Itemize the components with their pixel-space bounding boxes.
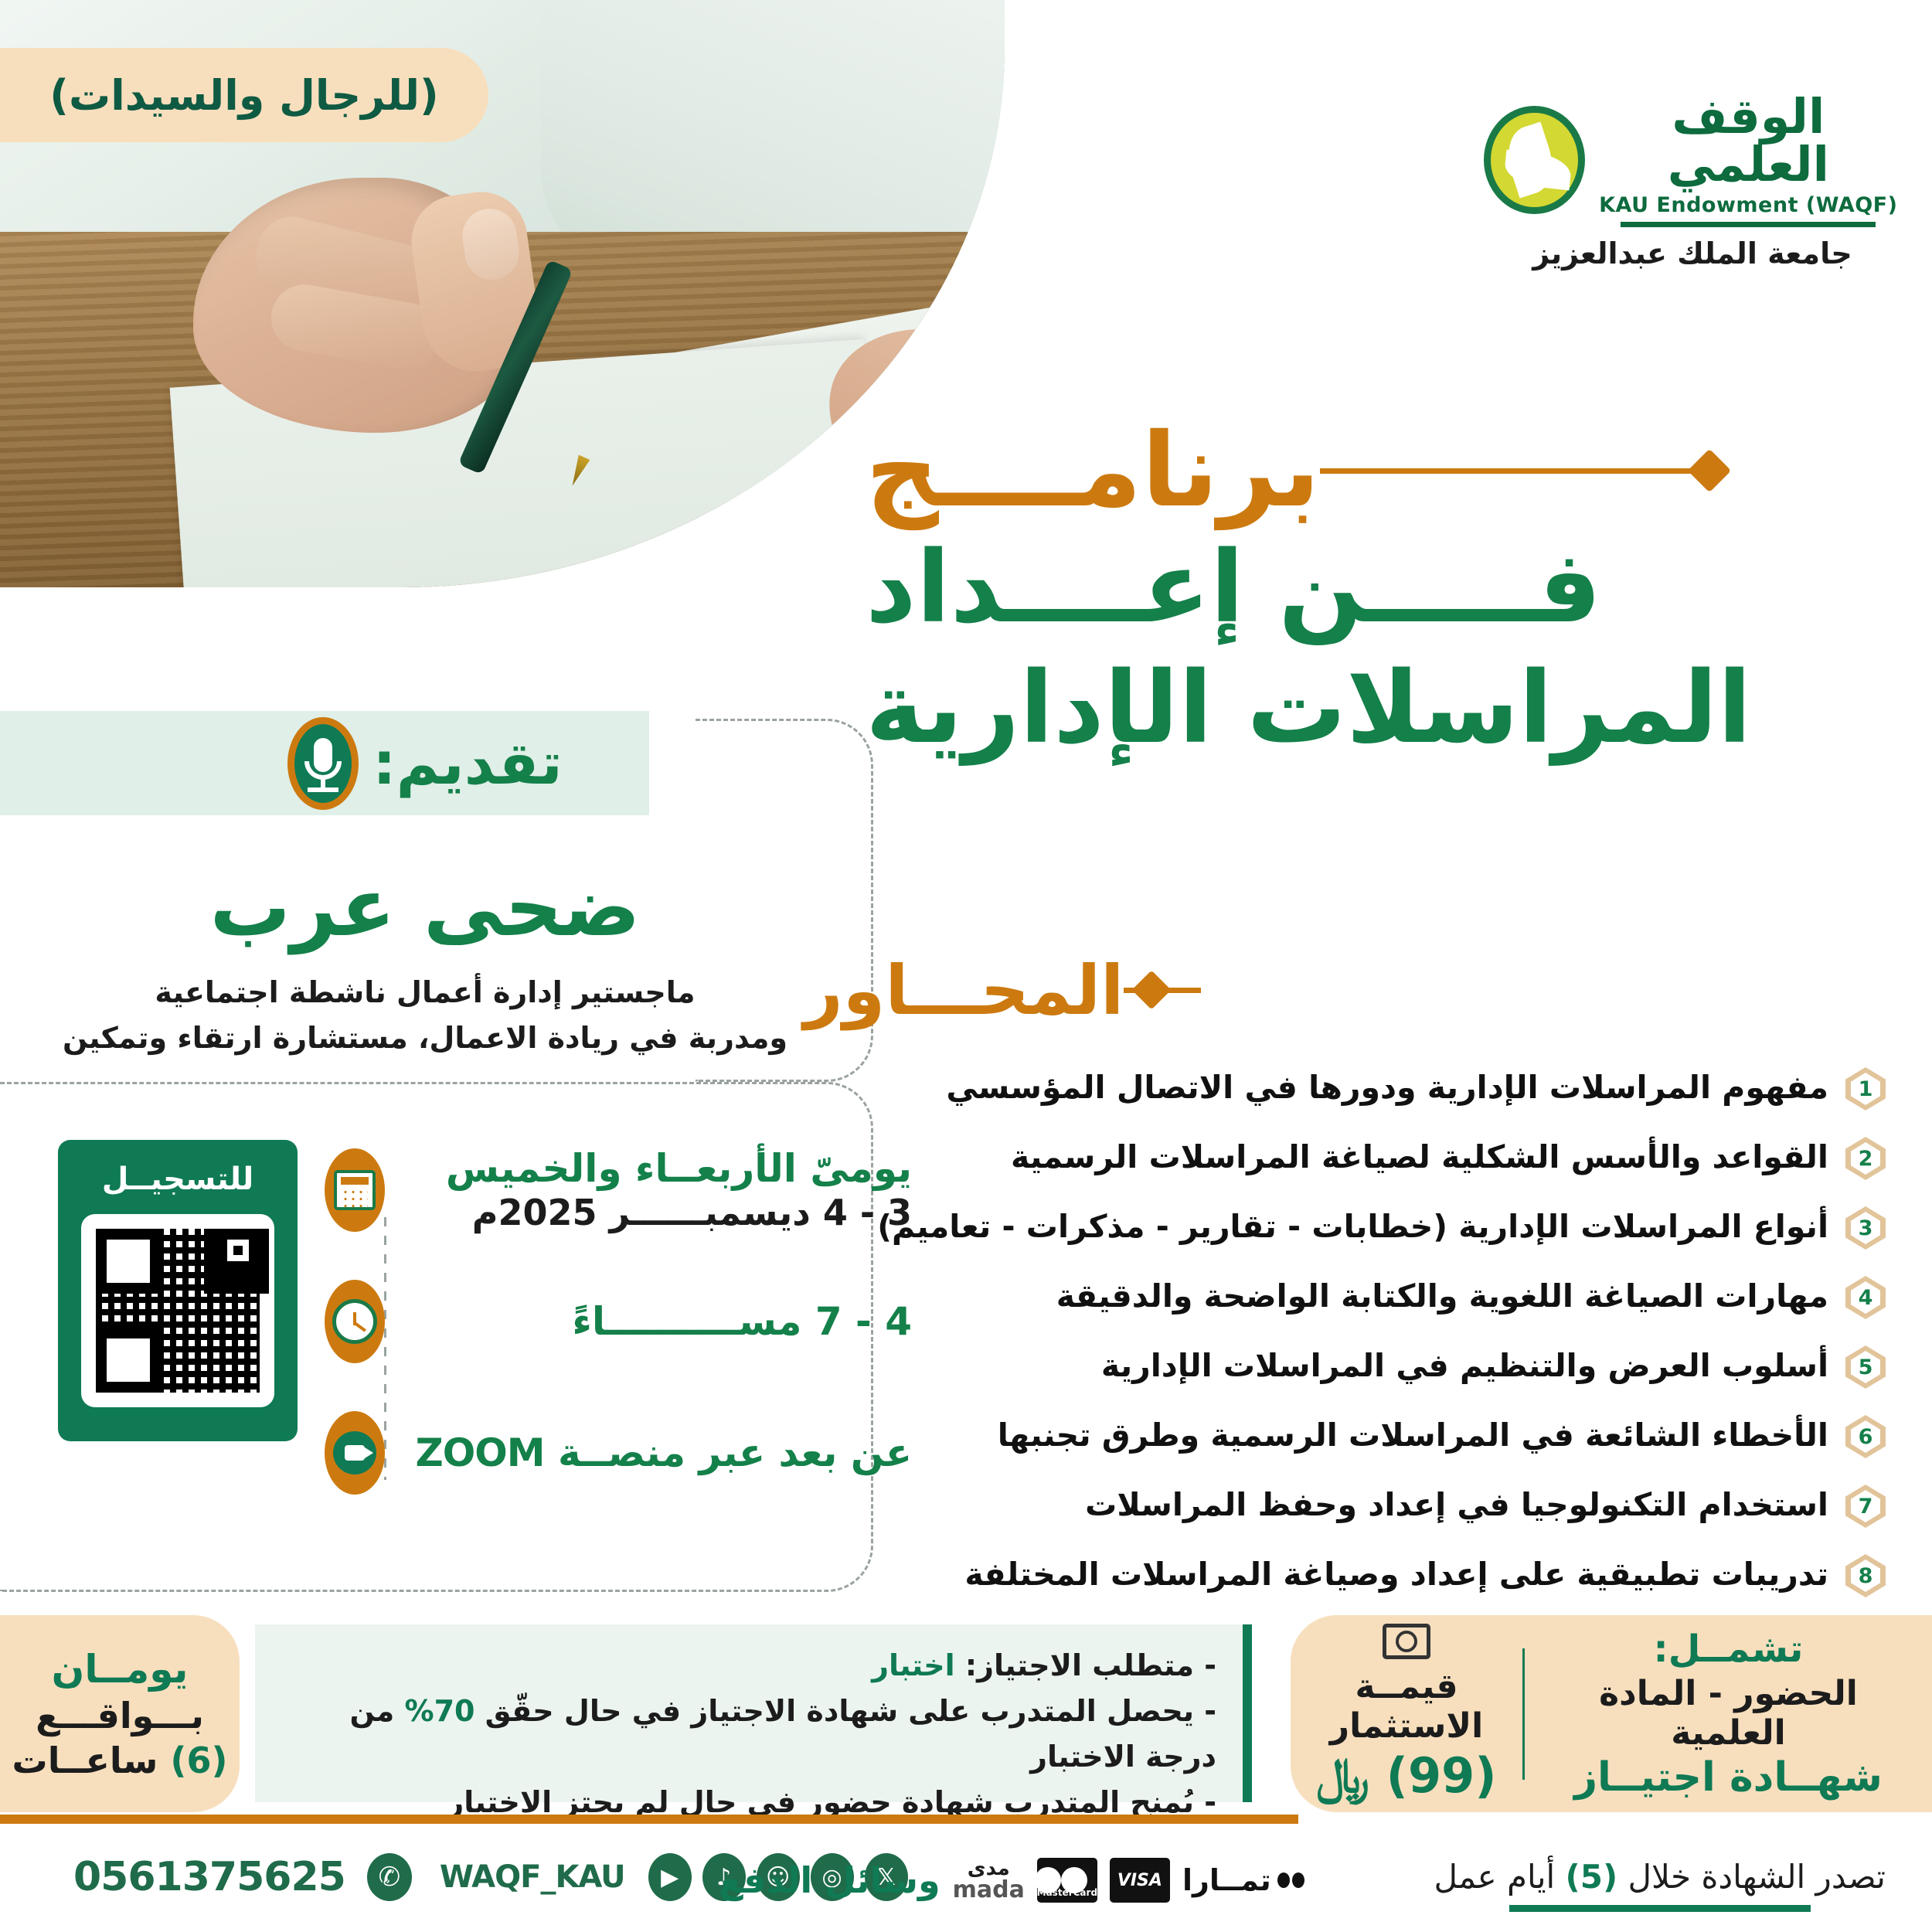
registration-card[interactable]: للتسجيــل bbox=[58, 1140, 298, 1441]
axis-item: 7استخدام التكنولوجيا في إعداد وحفظ المرا… bbox=[804, 1485, 1886, 1528]
note-row: - متطلب الاجتياز: اختبار bbox=[281, 1643, 1216, 1689]
investment-pill: تشمــل: الحضور - المادة العلمية شهــادة … bbox=[1291, 1615, 1932, 1812]
youtube-icon[interactable]: ▶ bbox=[648, 1853, 692, 1901]
axes-section: المحـــاور 1مفهوم المراسلات الإدارية ودو… bbox=[804, 951, 1886, 1624]
axis-number-badge: 3 bbox=[1845, 1206, 1886, 1250]
duration-hours-value: (6) bbox=[170, 1740, 227, 1781]
presenter-label: تقديم: bbox=[372, 729, 563, 798]
investment-price: قيمــة الاستثمار (99) ﷼ bbox=[1291, 1624, 1522, 1804]
axis-number-badge: 7 bbox=[1845, 1485, 1886, 1528]
duration-rate-label: بـــواقـــع bbox=[36, 1695, 204, 1736]
includes-line1: الحضور - المادة العلمية bbox=[1543, 1674, 1913, 1753]
title-main-line: المراسلات الإدارية bbox=[866, 648, 1886, 769]
axis-number-badge: 8 bbox=[1845, 1554, 1886, 1597]
investment-divider bbox=[1522, 1648, 1525, 1780]
duration-days: يومــان bbox=[52, 1647, 189, 1692]
axis-item: 1مفهوم المراسلات الإدارية ودورها في الات… bbox=[804, 1067, 1886, 1111]
title-dash-decoration bbox=[1320, 468, 1722, 474]
audience-badge: (للرجال والسيدات) bbox=[0, 48, 488, 142]
mastercard-icon: MasterCard bbox=[1037, 1858, 1097, 1903]
title-kicker: برنامــــج bbox=[866, 417, 1320, 525]
duration-hours: (6) ساعــات bbox=[12, 1740, 228, 1781]
visa-icon: VISA bbox=[1110, 1858, 1170, 1903]
mada-icon: مدى mada bbox=[953, 1859, 1025, 1902]
axis-number-badge: 1 bbox=[1845, 1067, 1886, 1111]
axis-text: أنواع المراسلات الإدارية (خطابات - تقاري… bbox=[877, 1206, 1828, 1247]
includes-label: تشمــل: bbox=[1543, 1628, 1913, 1671]
clock-icon bbox=[332, 1299, 377, 1344]
orange-divider-strip bbox=[0, 1815, 1298, 1824]
schedule-rows: يومىّ الأربعــاء والخميس3 - 4 ديسمبـــــ… bbox=[325, 1124, 912, 1519]
axis-text: الأخطاء الشائعة في المراسلات الرسمية وطر… bbox=[998, 1415, 1828, 1456]
certificate-prefix: تصدر الشهادة خلال bbox=[1617, 1858, 1886, 1896]
audience-badge-label: (للرجال والسيدات) bbox=[49, 71, 438, 120]
schedule-text: 4 - 7 مســــــــــاءً bbox=[405, 1299, 912, 1345]
axis-item: 3أنواع المراسلات الإدارية (خطابات - تقار… bbox=[804, 1206, 1886, 1250]
presenter-name: ضحى عرب bbox=[0, 860, 850, 954]
calendar-icon bbox=[334, 1170, 376, 1210]
axis-item: 4مهارات الصياغة اللغوية والكتابة الواضحة… bbox=[804, 1276, 1886, 1319]
axis-number-badge: 6 bbox=[1845, 1415, 1886, 1458]
footer-bar: 𝕏 ◎ ☺ ♪ ▶ WAQF_KAU ✆ 0561375625 وسائل ال… bbox=[0, 1847, 1932, 1932]
presenter-bio-line2: ومدربة في ريادة الاعمال، مستشارة ارتقاء … bbox=[0, 1017, 850, 1060]
poster-root: (للرجال والسيدات) الوقف العلمي KAU Endow… bbox=[0, 0, 1932, 1932]
logo-english-name: KAU Endowment (WAQF) bbox=[1596, 193, 1901, 217]
schedule-line2: 3 - 4 ديسمبــــــر 2025م bbox=[405, 1192, 912, 1233]
schedule-icon-wrap bbox=[325, 1411, 385, 1495]
kau-waqf-logo: الوقف العلمي KAU Endowment (WAQF) جامعة … bbox=[1484, 93, 1901, 270]
title-main-line: فـــــن إعــــداد bbox=[866, 528, 1886, 648]
microphone-icon bbox=[287, 717, 359, 810]
note-prefix: - متطلب الاجتياز: bbox=[955, 1648, 1216, 1682]
payment-label: وسائل الدفع bbox=[719, 1859, 940, 1901]
schedule-icon-wrap bbox=[325, 1280, 385, 1363]
axis-text: مفهوم المراسلات الإدارية ودورها في الاتص… bbox=[946, 1067, 1828, 1108]
duration-hours-unit: ساعــات bbox=[12, 1740, 158, 1781]
bottom-info-bar: يومــان بـــواقـــع (6) ساعــات - متطلب … bbox=[0, 1607, 1932, 1820]
schedule-line1: يومىّ الأربعــاء والخميس bbox=[446, 1146, 912, 1191]
schedule-text: يومىّ الأربعــاء والخميس3 - 4 ديسمبـــــ… bbox=[405, 1146, 912, 1233]
axis-number-badge: 4 bbox=[1845, 1276, 1886, 1319]
axes-heading: المحـــاور bbox=[804, 951, 1124, 1030]
axis-text: مهارات الصياغة اللغوية والكتابة الواضحة … bbox=[1056, 1276, 1828, 1317]
axis-number-badge: 5 bbox=[1845, 1345, 1886, 1389]
certificate-days: (5) bbox=[1566, 1858, 1618, 1896]
investment-includes: تشمــل: الحضور - المادة العلمية شهــادة … bbox=[1525, 1628, 1932, 1801]
whatsapp-icon[interactable]: ✆ bbox=[367, 1853, 412, 1901]
investment-label: قيمــة الاستثمار bbox=[1291, 1667, 1522, 1746]
phone-number: 0561375625 bbox=[73, 1854, 345, 1900]
poster-title: برنامــــج فـــــن إعــــدادالمراسلات ال… bbox=[866, 417, 1886, 769]
money-icon bbox=[1383, 1624, 1430, 1659]
social-handle: WAQF_KAU bbox=[440, 1859, 625, 1895]
conditions-notes: - متطلب الاجتياز: اختبار - يحصل المتدرب … bbox=[255, 1624, 1252, 1802]
certificate-note: تصدر الشهادة خلال (5) أيام عمل bbox=[1434, 1858, 1886, 1912]
duration-pill: يومــان بـــواقـــع (6) ساعــات bbox=[0, 1615, 240, 1812]
axes-list: 1مفهوم المراسلات الإدارية ودورها في الات… bbox=[804, 1067, 1886, 1597]
axis-text: استخدام التكنولوجيا في إعداد وحفظ المراس… bbox=[1085, 1485, 1828, 1526]
schedule-row: عن بعد عبر منصــة ZOOM bbox=[325, 1387, 912, 1519]
note-prefix: - يحصل المتدرب على شهادة الاجتياز في حال… bbox=[474, 1694, 1216, 1728]
note-row: - يحصل المتدرب على شهادة الاجتياز في حال… bbox=[281, 1689, 1216, 1780]
title-main: فـــــن إعــــدادالمراسلات الإدارية bbox=[866, 528, 1886, 769]
schedule-line1: 4 - 7 مســــــــــاءً bbox=[572, 1299, 912, 1344]
schedule-row: يومىّ الأربعــاء والخميس3 - 4 ديسمبـــــ… bbox=[325, 1124, 912, 1256]
axis-text: تدريبات تطبيقية على إعداد وصياغة المراسل… bbox=[964, 1554, 1828, 1595]
logo-divider bbox=[1621, 222, 1876, 227]
axis-item: 5أسلوب العرض والتنظيم في المراسلات الإدا… bbox=[804, 1345, 1886, 1389]
payment-methods: وسائل الدفع مدى mada MasterCard VISA تمـ… bbox=[719, 1858, 1304, 1903]
certificate-suffix: أيام عمل bbox=[1434, 1858, 1566, 1896]
presenter-section: تقديم: ضحى عرب ماجستير إدارة أعمال ناشطة… bbox=[0, 680, 850, 1060]
axis-item: 2القواعد والأسس الشكلية لصياغة المراسلات… bbox=[804, 1137, 1886, 1180]
qr-code[interactable] bbox=[81, 1214, 274, 1407]
note-highlight: اختبار bbox=[872, 1648, 955, 1682]
axis-number-badge: 2 bbox=[1845, 1137, 1886, 1180]
certificate-underline bbox=[1509, 1905, 1811, 1912]
video-camera-icon bbox=[333, 1431, 376, 1475]
note-highlight: 70% bbox=[404, 1694, 474, 1728]
schedule-text: عن بعد عبر منصــة ZOOM bbox=[405, 1430, 912, 1476]
logo-seal-icon bbox=[1484, 106, 1585, 214]
axis-item: 8تدريبات تطبيقية على إعداد وصياغة المراس… bbox=[804, 1554, 1886, 1597]
axis-text: القواعد والأسس الشكلية لصياغة المراسلات … bbox=[1011, 1137, 1828, 1178]
axis-item: 6الأخطاء الشائعة في المراسلات الرسمية وط… bbox=[804, 1415, 1886, 1458]
tamara-icon: تمــارا bbox=[1182, 1863, 1304, 1897]
axis-text: أسلوب العرض والتنظيم في المراسلات الإدار… bbox=[1101, 1345, 1828, 1386]
logo-arabic-name: الوقف العلمي bbox=[1596, 93, 1901, 189]
presenter-bio-line1: ماجستير إدارة أعمال ناشطة اجتماعية bbox=[0, 971, 850, 1014]
logo-university-name: جامعة الملك عبدالعزيز bbox=[1484, 236, 1901, 270]
registration-label: للتسجيــل bbox=[102, 1162, 254, 1197]
schedule-row: 4 - 7 مســــــــــاءً bbox=[325, 1256, 912, 1387]
schedule-line1: عن بعد عبر منصــة ZOOM bbox=[416, 1430, 913, 1475]
investment-value: (99) ﷼ bbox=[1291, 1747, 1522, 1804]
schedule-icon-wrap bbox=[325, 1148, 385, 1232]
includes-line2: شهــادة اجتيــاز bbox=[1543, 1754, 1913, 1801]
axes-dash-decoration bbox=[1124, 988, 1201, 993]
